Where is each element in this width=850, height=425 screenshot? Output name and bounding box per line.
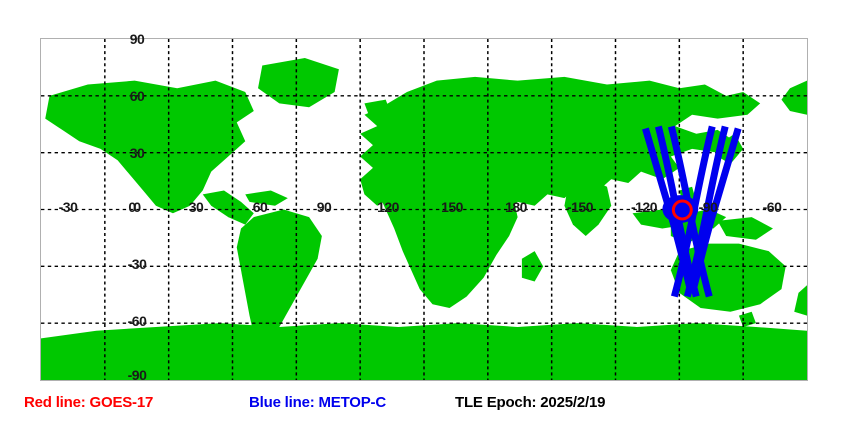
legend-bar: Red line: GOES-17 Blue line: METOP-C TLE… <box>0 392 850 425</box>
world-map-plot <box>40 38 808 381</box>
legend-blue-line-metop-c: Blue line: METOP-C <box>249 392 386 414</box>
lon-tick--150: -150 <box>567 200 593 214</box>
lat-tick-60: 60 <box>130 89 145 103</box>
lon-tick-180: 180 <box>505 200 527 214</box>
lat-tick-90: 90 <box>130 32 145 46</box>
lon-tick--60: -60 <box>763 200 782 214</box>
lon-tick--120: -120 <box>631 200 657 214</box>
lon-tick-90: 90 <box>317 200 332 214</box>
lat-tick--60: -60 <box>128 314 147 328</box>
lat-tick-30: 30 <box>130 146 145 160</box>
lat-tick--30: -30 <box>128 257 147 271</box>
map-figure: -30 0 30 60 90 120 150 180 -150 -120 -90… <box>0 0 850 390</box>
lon-tick-30: 30 <box>189 200 204 214</box>
satellite-tracks-overlay <box>41 39 807 380</box>
lon-tick-120: 120 <box>377 200 399 214</box>
lon-tick-60: 60 <box>253 200 268 214</box>
lat-tick--90: -90 <box>128 368 147 382</box>
legend-red-line-goes-17: Red line: GOES-17 <box>24 392 153 414</box>
lat-tick-0: 0 <box>133 200 140 214</box>
legend-tle-epoch: TLE Epoch: 2025/2/19 <box>455 392 605 414</box>
lon-tick-150: 150 <box>441 200 463 214</box>
lon-tick--30: -30 <box>59 200 78 214</box>
lon-tick--90: -90 <box>699 200 718 214</box>
